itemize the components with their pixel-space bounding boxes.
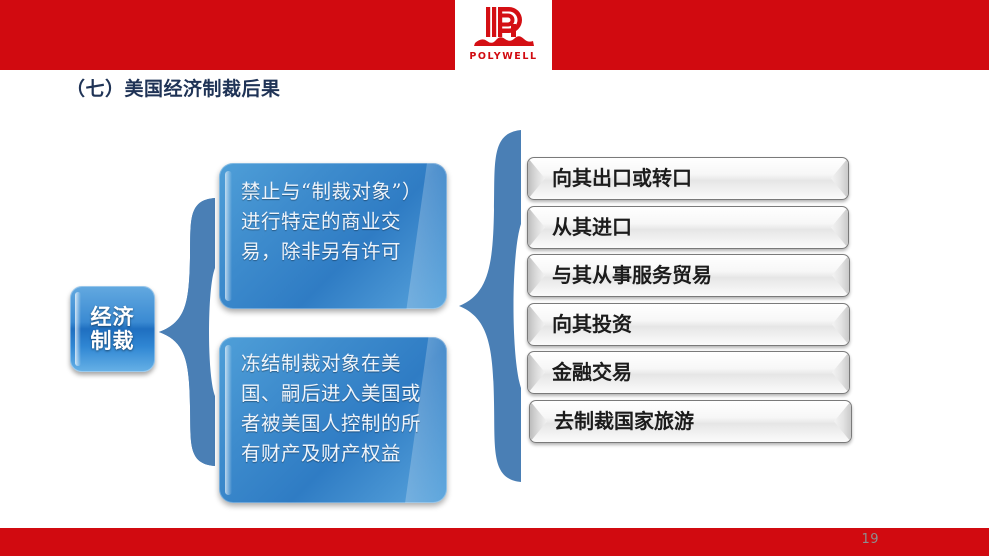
polywell-p-logo-icon (469, 3, 539, 53)
brace-middle-to-items (457, 128, 525, 484)
logo-wordmark: POLYWELL (469, 52, 537, 62)
footer-band (0, 528, 989, 556)
middle-node-prohibit-transactions-text: 禁止与“制裁对象”）进行特定的商业交易，除非另有许可 (219, 163, 447, 277)
item-box-service-trade[interactable]: 与其从事服务贸易 (527, 254, 850, 297)
brace-root-to-middle (157, 196, 219, 468)
item-box-travel-to-sanctioned-label: 去制裁国家旅游 (530, 401, 851, 442)
item-box-financial-transactions[interactable]: 金融交易 (527, 351, 850, 394)
item-box-invest-in-label: 向其投资 (528, 304, 849, 345)
brace-middle-to-items-icon (457, 128, 525, 484)
item-box-export-reexport[interactable]: 向其出口或转口 (527, 157, 849, 200)
root-node-label: 经济 制裁 (91, 305, 135, 353)
logo-panel: POLYWELL (455, 0, 552, 70)
page-number: 19 (861, 532, 879, 547)
middle-node-freeze-assets[interactable]: 冻结制裁对象在美国、嗣后进入美国或者被美国人控制的所有财产及财产权益 (219, 337, 447, 503)
brace-root-to-middle-icon (157, 196, 219, 468)
middle-node-freeze-assets-text: 冻结制裁对象在美国、嗣后进入美国或者被美国人控制的所有财产及财产权益 (219, 337, 447, 479)
item-box-export-reexport-label: 向其出口或转口 (528, 158, 848, 199)
item-box-financial-transactions-label: 金融交易 (528, 352, 849, 393)
root-node-label-line2: 制裁 (91, 328, 135, 353)
root-node-economic-sanctions[interactable]: 经济 制裁 (70, 286, 155, 372)
item-box-import-from-label: 从其进口 (528, 207, 848, 248)
root-node-label-line1: 经济 (91, 304, 135, 329)
item-box-invest-in[interactable]: 向其投资 (527, 303, 850, 346)
middle-node-prohibit-transactions[interactable]: 禁止与“制裁对象”）进行特定的商业交易，除非另有许可 (219, 163, 447, 309)
page-title: （七）美国经济制裁后果 (66, 74, 281, 101)
item-box-travel-to-sanctioned[interactable]: 去制裁国家旅游 (529, 400, 852, 443)
item-box-service-trade-label: 与其从事服务贸易 (528, 255, 849, 296)
slide-canvas: POLYWELL （七）美国经济制裁后果 经济 制裁 禁止与“制裁对象”）进行特… (0, 0, 989, 556)
item-box-import-from[interactable]: 从其进口 (527, 206, 849, 249)
